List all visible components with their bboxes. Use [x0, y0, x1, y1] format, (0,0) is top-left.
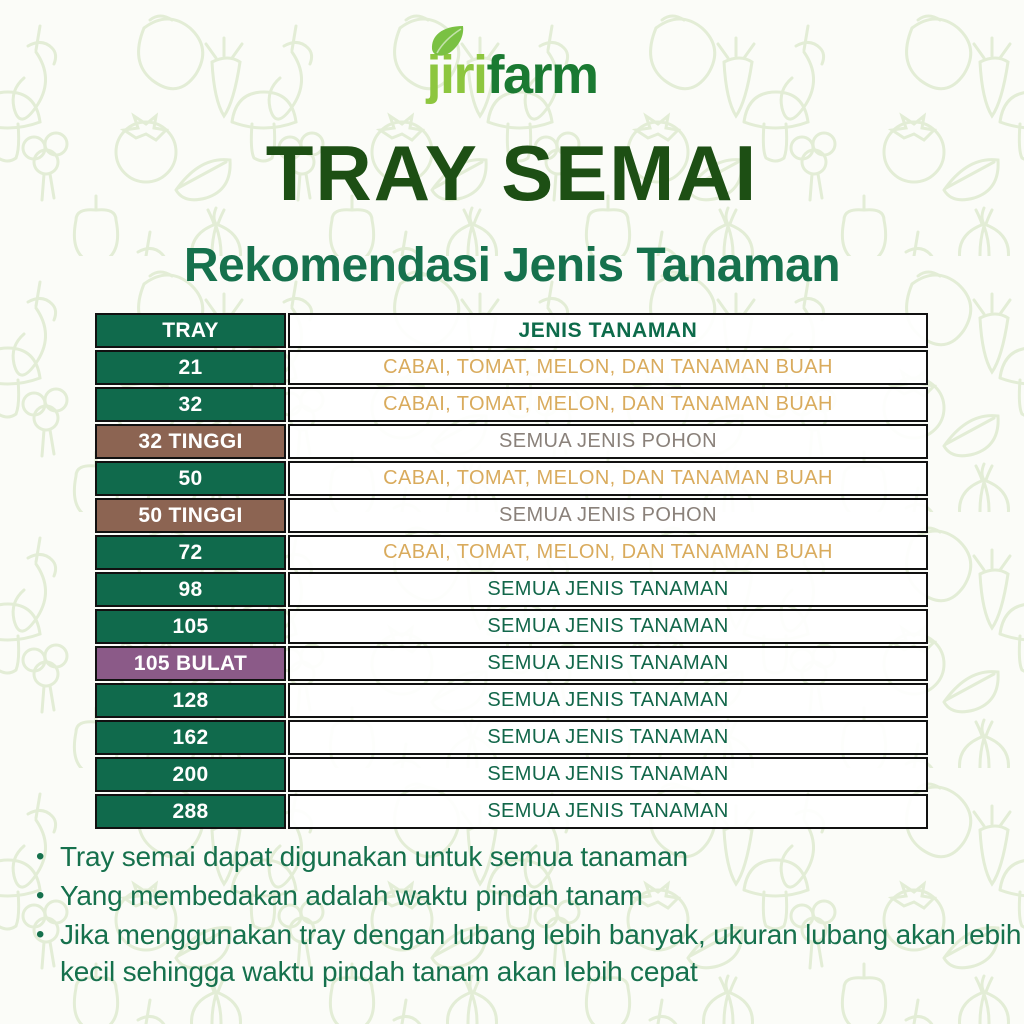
page-title: TRAY SEMAI	[0, 131, 1024, 215]
cell-plant-type: CABAI, TOMAT, MELON, DAN TANAMAN BUAH	[288, 461, 928, 496]
cell-tray-size: 21	[95, 350, 286, 385]
poster-root: jirifarm TRAY SEMAI Rekomendasi Jenis Ta…	[0, 0, 1024, 1024]
cell-plant-type: SEMUA JENIS TANAMAN	[288, 794, 928, 829]
list-item: •Yang membedakan adalah waktu pindah tan…	[36, 877, 1024, 914]
cell-plant-type: CABAI, TOMAT, MELON, DAN TANAMAN BUAH	[288, 535, 928, 570]
table-row: 288SEMUA JENIS TANAMAN	[95, 794, 928, 829]
brand-logo: jirifarm	[0, 40, 1024, 120]
cell-plant-type: SEMUA JENIS TANAMAN	[288, 720, 928, 755]
cell-tray-size: 50 TINGGI	[95, 498, 286, 533]
list-item-text: Jika menggunakan tray dengan lubang lebi…	[60, 916, 1024, 990]
cell-tray-size: 162	[95, 720, 286, 755]
column-header-jenis-tanaman: JENIS TANAMAN	[288, 313, 928, 348]
table-row: 105 BULATSEMUA JENIS TANAMAN	[95, 646, 928, 681]
list-item: •Tray semai dapat digunakan untuk semua …	[36, 838, 1024, 875]
notes-list: •Tray semai dapat digunakan untuk semua …	[36, 838, 1024, 992]
column-header-tray: TRAY	[95, 313, 286, 348]
cell-plant-type: SEMUA JENIS POHON	[288, 498, 928, 533]
cell-plant-type: SEMUA JENIS TANAMAN	[288, 757, 928, 792]
table-row: 105SEMUA JENIS TANAMAN	[95, 609, 928, 644]
list-item-text: Tray semai dapat digunakan untuk semua t…	[60, 838, 1024, 875]
bullet-dot-icon: •	[36, 877, 60, 914]
table-row: 200SEMUA JENIS TANAMAN	[95, 757, 928, 792]
table-row: 21CABAI, TOMAT, MELON, DAN TANAMAN BUAH	[95, 350, 928, 385]
cell-tray-size: 128	[95, 683, 286, 718]
table-header-row: TRAY JENIS TANAMAN	[95, 313, 928, 348]
table-row: 32CABAI, TOMAT, MELON, DAN TANAMAN BUAH	[95, 387, 928, 422]
leaf-icon	[430, 24, 466, 58]
bullet-dot-icon: •	[36, 838, 60, 875]
bullet-dot-icon: •	[36, 916, 60, 953]
cell-tray-size: 200	[95, 757, 286, 792]
cell-plant-type: SEMUA JENIS TANAMAN	[288, 646, 928, 681]
page-subtitle: Rekomendasi Jenis Tanaman	[0, 238, 1024, 294]
cell-tray-size: 32	[95, 387, 286, 422]
cell-tray-size: 105	[95, 609, 286, 644]
cell-plant-type: SEMUA JENIS TANAMAN	[288, 609, 928, 644]
cell-plant-type: CABAI, TOMAT, MELON, DAN TANAMAN BUAH	[288, 350, 928, 385]
cell-plant-type: SEMUA JENIS POHON	[288, 424, 928, 459]
cell-plant-type: SEMUA JENIS TANAMAN	[288, 683, 928, 718]
cell-tray-size: 288	[95, 794, 286, 829]
tray-recommendation-table: TRAY JENIS TANAMAN 21CABAI, TOMAT, MELON…	[95, 313, 928, 829]
list-item: •Jika menggunakan tray dengan lubang leb…	[36, 916, 1024, 990]
table-row: 128SEMUA JENIS TANAMAN	[95, 683, 928, 718]
cell-tray-size: 32 TINGGI	[95, 424, 286, 459]
table-row: 32 TINGGISEMUA JENIS POHON	[95, 424, 928, 459]
cell-tray-size: 105 BULAT	[95, 646, 286, 681]
list-item-text: Yang membedakan adalah waktu pindah tana…	[60, 877, 1024, 914]
logo-text-farm: farm	[486, 45, 597, 105]
cell-tray-size: 50	[95, 461, 286, 496]
cell-tray-size: 72	[95, 535, 286, 570]
cell-plant-type: CABAI, TOMAT, MELON, DAN TANAMAN BUAH	[288, 387, 928, 422]
table-row: 72CABAI, TOMAT, MELON, DAN TANAMAN BUAH	[95, 535, 928, 570]
table-row: 50 TINGGISEMUA JENIS POHON	[95, 498, 928, 533]
cell-tray-size: 98	[95, 572, 286, 607]
table-row: 162SEMUA JENIS TANAMAN	[95, 720, 928, 755]
table-row: 50CABAI, TOMAT, MELON, DAN TANAMAN BUAH	[95, 461, 928, 496]
cell-plant-type: SEMUA JENIS TANAMAN	[288, 572, 928, 607]
table-row: 98SEMUA JENIS TANAMAN	[95, 572, 928, 607]
